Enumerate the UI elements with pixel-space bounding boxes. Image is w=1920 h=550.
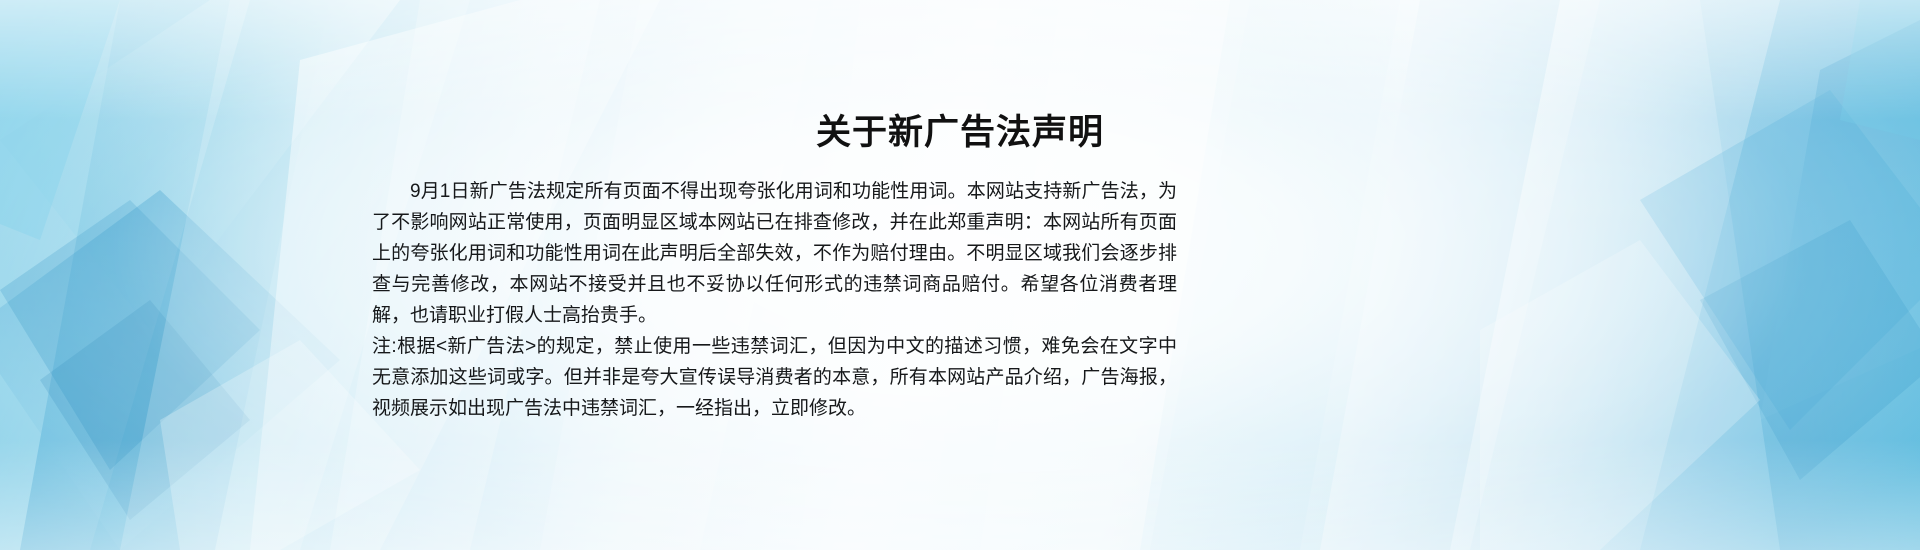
page-title: 关于新广告法声明 <box>0 111 1920 155</box>
content-container: 关于新广告法声明 9月1日新广告法规定所有页面不得出现夸张化用词和功能性用词。本… <box>0 0 1920 550</box>
statement-paragraph: 9月1日新广告法规定所有页面不得出现夸张化用词和功能性用词。本网站支持新广告法，… <box>372 176 1177 331</box>
statement-body: 9月1日新广告法规定所有页面不得出现夸张化用词和功能性用词。本网站支持新广告法，… <box>372 176 1177 424</box>
note-paragraph: 注:根据<新广告法>的规定，禁止使用一些违禁词汇，但因为中文的描述习惯，难免会在… <box>372 331 1177 424</box>
announcement-banner: 关于新广告法声明 9月1日新广告法规定所有页面不得出现夸张化用词和功能性用词。本… <box>0 0 1920 550</box>
